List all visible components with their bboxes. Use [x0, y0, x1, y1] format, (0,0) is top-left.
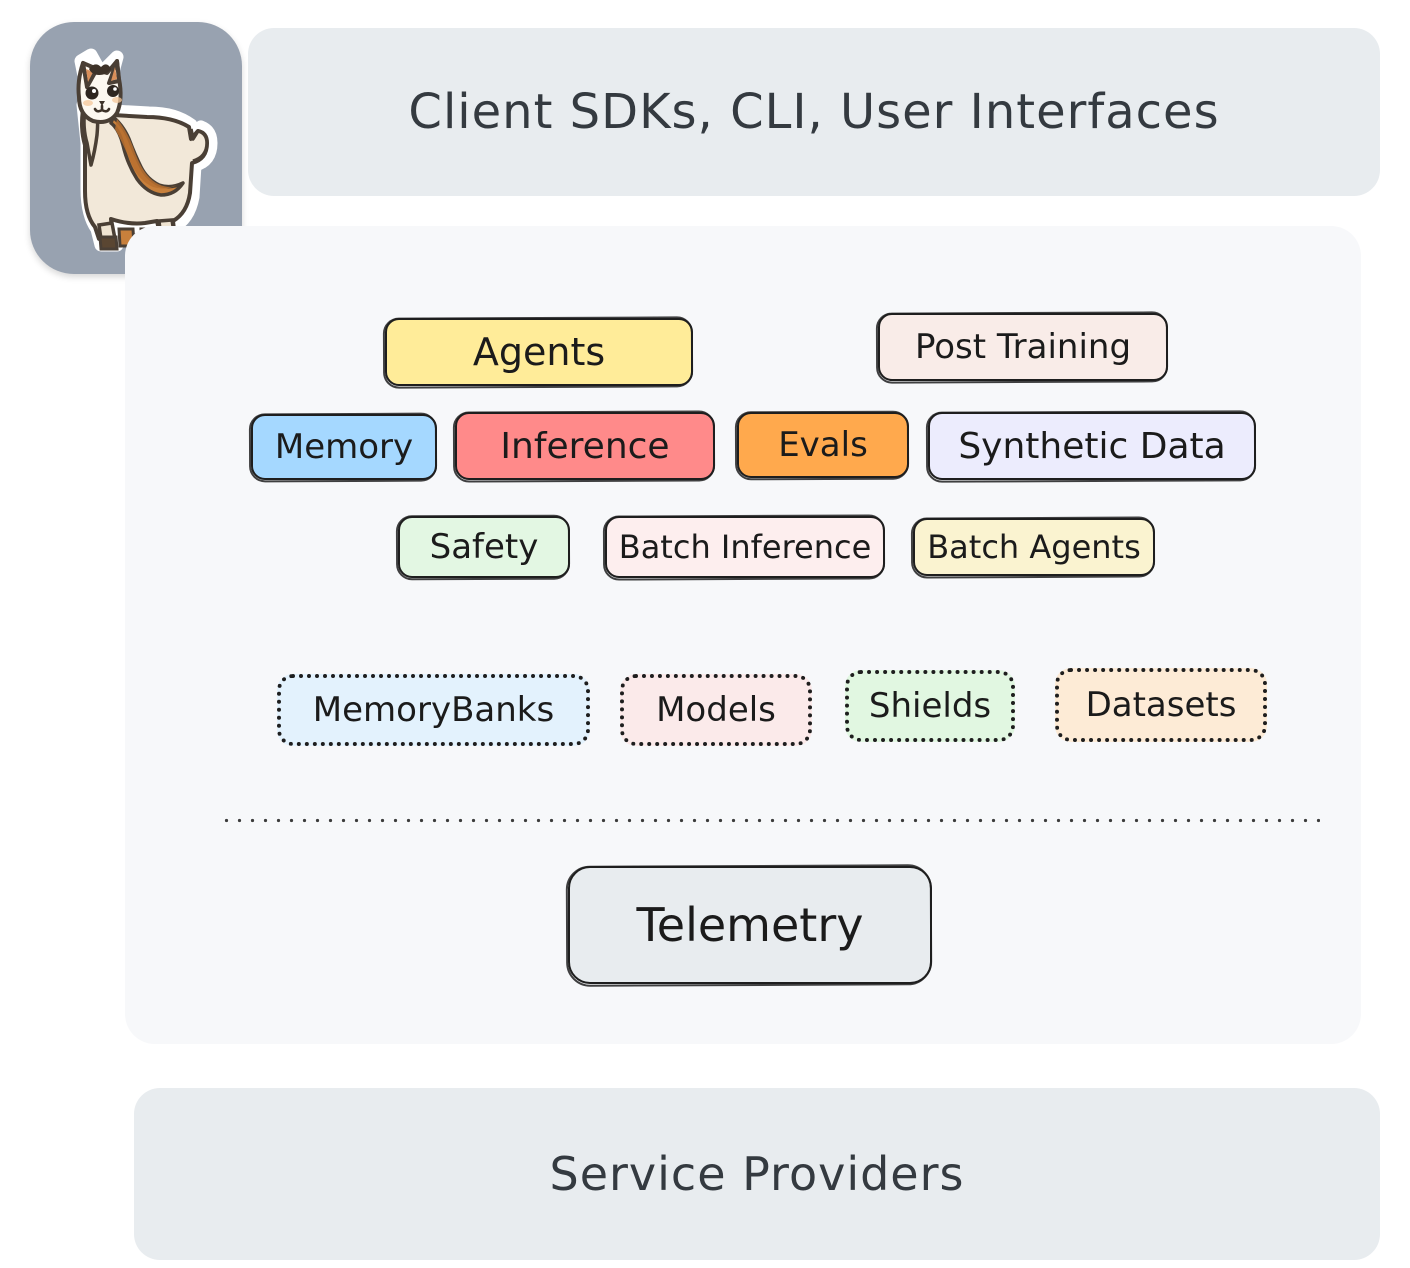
api-box-batch-agents[interactable]: Batch Agents: [913, 518, 1155, 576]
api-box-evals[interactable]: Evals: [737, 412, 909, 478]
api-box-agents[interactable]: Agents: [385, 318, 693, 386]
api-box-safety[interactable]: Safety: [398, 516, 570, 578]
api-box-memory-label: Memory: [275, 427, 413, 467]
resource-box-shields-label: Shields: [869, 686, 991, 726]
telemetry-box-label: Telemetry: [637, 898, 864, 952]
api-box-synthetic-data-label: Synthetic Data: [958, 426, 1225, 467]
api-box-inference[interactable]: Inference: [455, 412, 715, 480]
telemetry-box[interactable]: Telemetry: [568, 866, 932, 984]
api-box-synthetic-data[interactable]: Synthetic Data: [928, 412, 1256, 480]
api-box-batch-inference[interactable]: Batch Inference: [605, 516, 885, 578]
resource-box-shields[interactable]: Shields: [845, 670, 1015, 742]
resource-box-models-label: Models: [656, 690, 776, 730]
service-providers-label: Service Providers: [550, 1147, 965, 1201]
api-box-memory[interactable]: Memory: [251, 414, 437, 480]
api-box-evals-label: Evals: [778, 425, 868, 465]
api-box-safety-label: Safety: [430, 527, 539, 567]
service-providers-banner: Service Providers: [134, 1088, 1380, 1260]
diagram-canvas: Client SDKs, CLI, User Interfaces: [0, 0, 1410, 1268]
client-layer-label: Client SDKs, CLI, User Interfaces: [408, 84, 1219, 140]
api-box-post-training[interactable]: Post Training: [878, 313, 1168, 381]
api-box-inference-label: Inference: [500, 426, 669, 467]
section-divider: [220, 818, 1320, 823]
api-box-post-training-label: Post Training: [915, 327, 1131, 367]
resource-box-datasets[interactable]: Datasets: [1055, 668, 1267, 742]
resource-box-datasets-label: Datasets: [1086, 685, 1237, 725]
resource-box-models[interactable]: Models: [620, 674, 812, 746]
api-box-agents-label: Agents: [473, 330, 605, 374]
api-box-batch-agents-label: Batch Agents: [927, 528, 1141, 566]
api-box-batch-inference-label: Batch Inference: [619, 528, 872, 566]
resource-box-memorybanks[interactable]: MemoryBanks: [277, 674, 590, 746]
resource-box-memorybanks-label: MemoryBanks: [313, 690, 554, 730]
client-layer-banner: Client SDKs, CLI, User Interfaces: [248, 28, 1380, 196]
